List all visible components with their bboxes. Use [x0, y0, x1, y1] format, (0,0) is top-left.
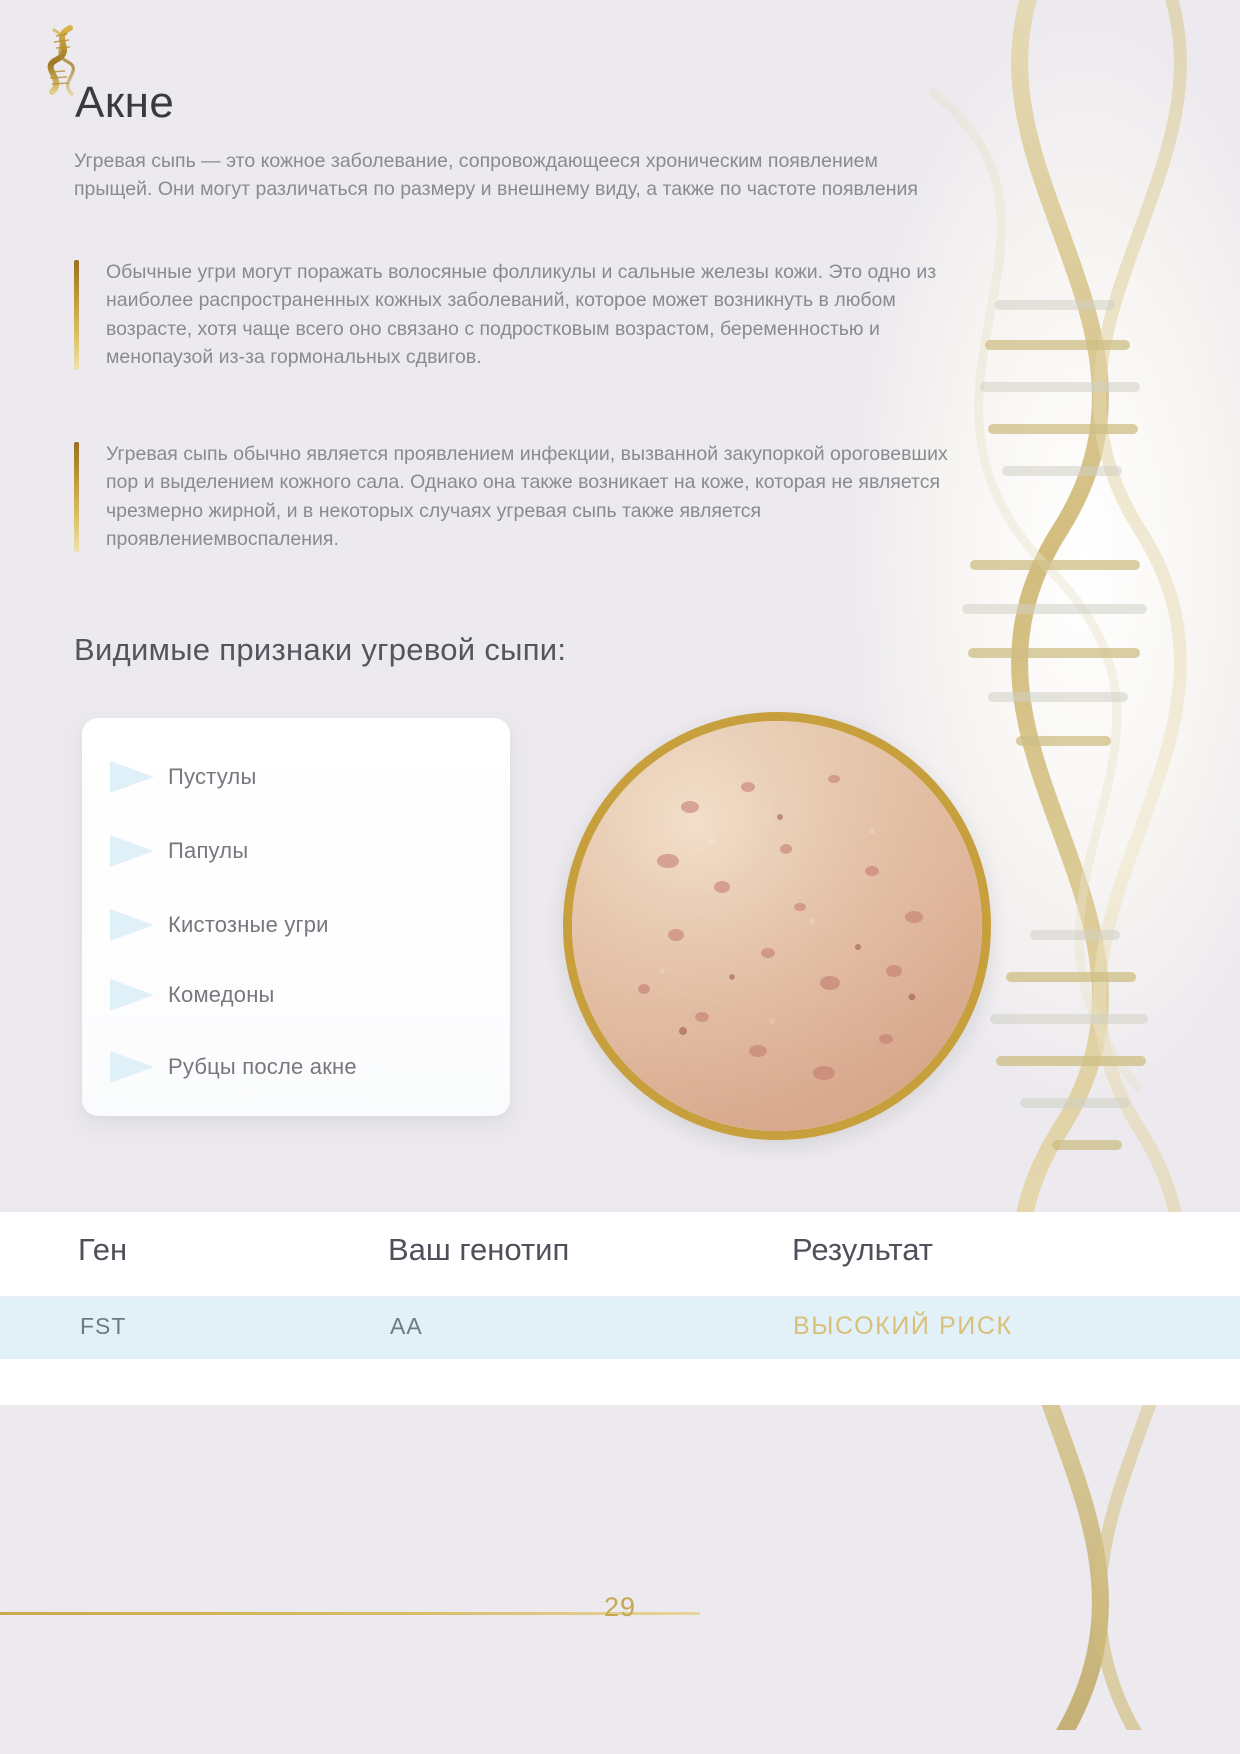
list-item-label: Кистозные угри	[168, 912, 329, 938]
gold-accent-bar	[74, 442, 79, 552]
photo-image	[572, 721, 982, 1131]
table-header-result: Результат	[792, 1232, 933, 1268]
quote-block-2: Угревая сыпь обычно является проявлением…	[74, 440, 968, 554]
quote-text-1: Обычные угри могут поражать волосяные фо…	[106, 258, 968, 372]
page-number: 29	[0, 1592, 1240, 1623]
triangle-bullet-icon	[110, 761, 154, 793]
acne-skin-photo	[563, 712, 991, 1140]
quote-text-2: Угревая сыпь обычно является проявлением…	[106, 440, 968, 554]
table-cell-genotype: AA	[390, 1313, 423, 1340]
signs-section-heading: Видимые признаки угревой сыпи:	[74, 632, 566, 668]
list-item-label: Пустулы	[168, 764, 256, 790]
visible-signs-card: Пустулы Папулы Кистозные угри Комедоны Р…	[82, 718, 510, 1116]
list-item-label: Папулы	[168, 838, 248, 864]
report-page: Акне Угревая сыпь — это кожное заболеван…	[0, 0, 1240, 1754]
table-row	[0, 1297, 1240, 1359]
table-header-gene: Ген	[78, 1232, 127, 1268]
status-badge: ВЫСОКИЙ РИСК	[793, 1312, 1013, 1341]
table-footer-band	[0, 1359, 1240, 1405]
list-item: Папулы	[110, 834, 248, 868]
table-header-row	[0, 1212, 1240, 1296]
triangle-bullet-icon	[110, 979, 154, 1011]
list-item: Рубцы после акне	[110, 1050, 357, 1084]
page-title: Акне	[75, 78, 174, 128]
intro-paragraph: Угревая сыпь — это кожное заболевание, с…	[74, 148, 958, 203]
quote-block-1: Обычные угри могут поражать волосяные фо…	[74, 258, 968, 372]
list-item: Пустулы	[110, 760, 256, 794]
list-item: Комедоны	[110, 978, 275, 1012]
triangle-bullet-icon	[110, 909, 154, 941]
table-cell-gene: FST	[80, 1313, 126, 1340]
list-item: Кистозные угри	[110, 908, 329, 942]
list-item-label: Комедоны	[168, 982, 275, 1008]
gold-accent-bar	[74, 260, 79, 370]
triangle-bullet-icon	[110, 1051, 154, 1083]
triangle-bullet-icon	[110, 835, 154, 867]
list-item-label: Рубцы после акне	[168, 1054, 357, 1080]
table-header-genotype: Ваш генотип	[388, 1232, 569, 1268]
